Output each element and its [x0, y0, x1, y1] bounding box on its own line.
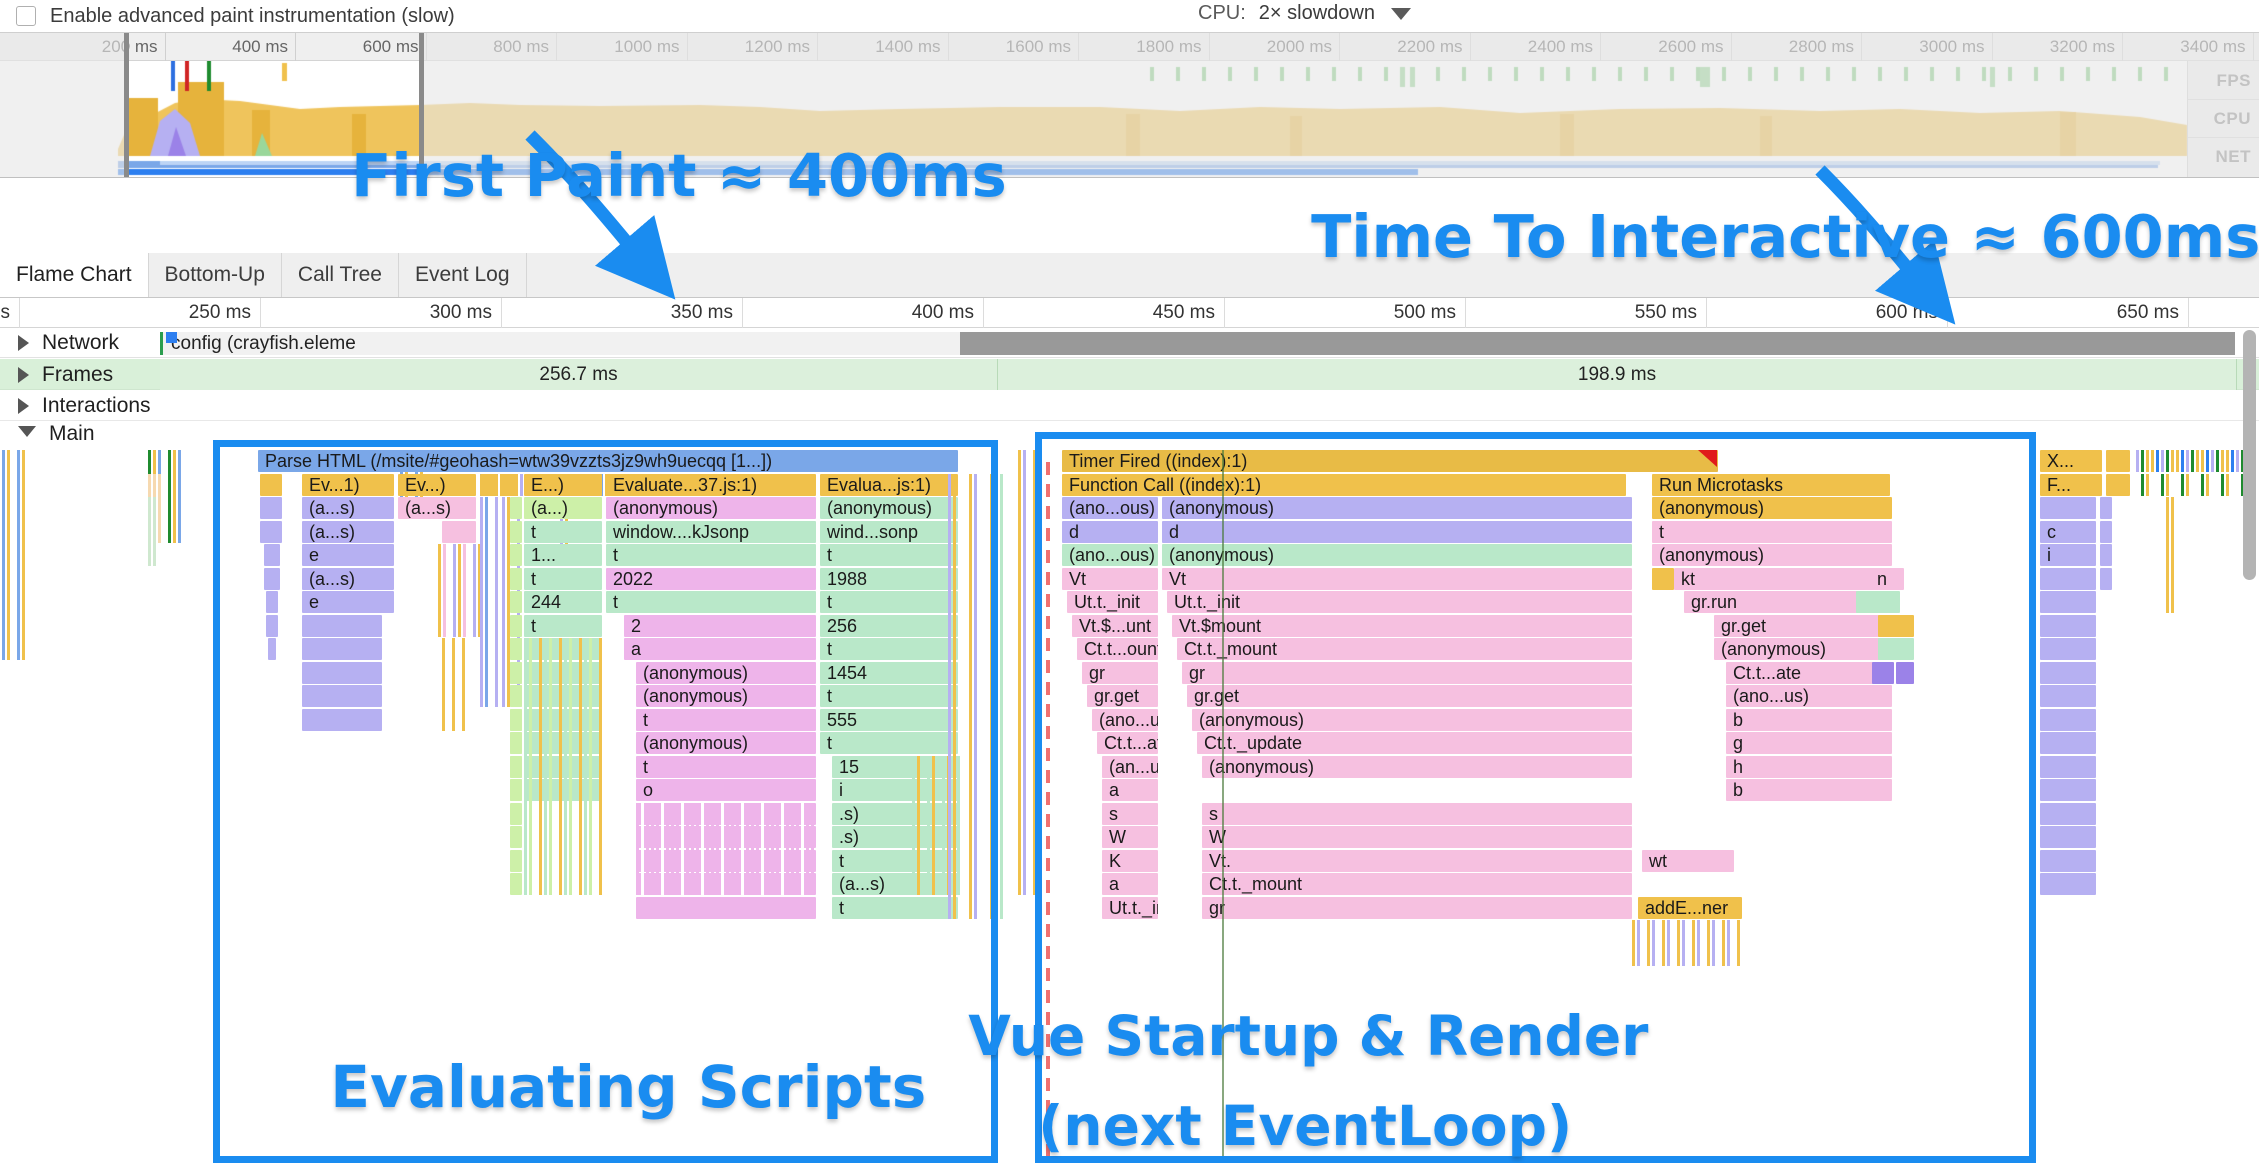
flame-frame[interactable]: a: [1102, 873, 1158, 895]
flame-microframe[interactable]: [781, 803, 784, 896]
flame-microframe[interactable]: [701, 803, 704, 896]
track-interactions[interactable]: Interactions: [0, 391, 2259, 421]
flame-frame[interactable]: [636, 897, 816, 919]
flame-frame[interactable]: Ev...1): [302, 474, 394, 496]
flame-microframe[interactable]: [726, 803, 729, 896]
flame-frame[interactable]: Ct.t...ate: [1726, 662, 1892, 684]
flame-microframe[interactable]: [771, 803, 774, 896]
flame-frame[interactable]: s: [1102, 803, 1158, 825]
flame-frame[interactable]: a: [624, 638, 816, 660]
flame-microframe[interactable]: [2231, 450, 2234, 472]
flame-frame[interactable]: 2: [624, 615, 816, 637]
flame-microframe[interactable]: [681, 803, 684, 896]
flame-microframe[interactable]: [801, 803, 804, 896]
flame-frame[interactable]: [502, 474, 518, 496]
flame-microframe[interactable]: [2151, 450, 2154, 472]
flame-frame[interactable]: Ev...): [398, 474, 476, 496]
cpu-value[interactable]: 2× slowdown: [1259, 2, 1375, 25]
flame-frame[interactable]: (ano...ous): [1062, 544, 1158, 566]
flame-frame[interactable]: [2040, 756, 2096, 778]
flame-microframe[interactable]: [2146, 450, 2149, 472]
flame-microframe[interactable]: [1682, 920, 1685, 966]
flame-frame-parse-html[interactable]: Parse HTML (/msite/#geohash=wtw39vzzts3j…: [258, 450, 958, 472]
flame-frame[interactable]: [510, 850, 522, 872]
flame-frame[interactable]: [260, 521, 282, 543]
flame-frame[interactable]: (a...s): [832, 873, 958, 895]
flame-frame[interactable]: [510, 732, 522, 754]
chevron-right-icon[interactable]: [18, 335, 29, 351]
flame-microframe[interactable]: [806, 803, 809, 896]
flame-frame[interactable]: [2040, 779, 2096, 801]
flame-microframe[interactable]: [666, 803, 669, 896]
flame-frame[interactable]: [2040, 873, 2096, 895]
flame-microframe[interactable]: [178, 450, 181, 543]
flame-microframe[interactable]: [731, 803, 734, 896]
flame-frame[interactable]: Function Call ((index):1): [1062, 474, 1626, 496]
flame-frame[interactable]: gr.get: [1087, 685, 1158, 707]
flame-frame[interactable]: a: [1102, 779, 1158, 801]
flame-microframe[interactable]: [2211, 450, 2214, 472]
flame-microframe[interactable]: [502, 497, 505, 707]
flame-frame[interactable]: Vt: [1162, 568, 1632, 590]
flame-frame[interactable]: [2040, 709, 2096, 731]
flame-frame[interactable]: (anonymous): [636, 732, 816, 754]
flame-frame[interactable]: [2040, 497, 2096, 519]
flame-frame[interactable]: [266, 615, 278, 637]
flame-microframe[interactable]: [520, 474, 523, 496]
flame-frame[interactable]: addE...ner: [1638, 897, 1742, 919]
flame-microframe[interactable]: [148, 497, 151, 566]
flame-frame[interactable]: [510, 685, 522, 707]
flame-microframe[interactable]: [691, 803, 694, 896]
tab-bottom-up[interactable]: Bottom-Up: [149, 253, 282, 297]
flame-frame[interactable]: K: [1102, 850, 1158, 872]
flame-frame[interactable]: [510, 497, 522, 519]
flame-frame[interactable]: t: [524, 568, 602, 590]
flame-microframe[interactable]: [696, 803, 699, 896]
flame-frame[interactable]: Ct.t...ate: [1097, 732, 1158, 754]
flame-frame[interactable]: 1...: [524, 544, 602, 566]
flame-microframe[interactable]: [438, 544, 441, 637]
flame-frame[interactable]: t: [820, 732, 958, 754]
track-main-label[interactable]: Main: [18, 422, 95, 446]
flame-frame[interactable]: [510, 638, 522, 660]
flame-frame[interactable]: (ano...us): [1092, 709, 1158, 731]
flame-microframe[interactable]: [948, 474, 951, 919]
flame-frame[interactable]: [2040, 615, 2096, 637]
flame-microframe[interactable]: [811, 803, 814, 896]
flame-microframe[interactable]: [458, 544, 461, 637]
flame-microframe[interactable]: [1023, 450, 1026, 895]
flame-microframe[interactable]: [2216, 450, 2219, 472]
flame-frame[interactable]: (anonymous): [1202, 756, 1632, 778]
flame-microframe[interactable]: [453, 544, 456, 637]
flame-microframe[interactable]: [579, 638, 582, 895]
flame-microframe[interactable]: [661, 803, 664, 896]
flame-frame[interactable]: [268, 638, 276, 660]
flame-frame[interactable]: [2040, 685, 2096, 707]
flame-frame[interactable]: [510, 591, 522, 613]
flame-frame[interactable]: [480, 474, 498, 496]
flame-frame[interactable]: (an...us): [1102, 756, 1158, 778]
flame-frame[interactable]: Vt.: [1202, 850, 1632, 872]
flame-microframe[interactable]: [480, 497, 483, 707]
flame-microframe[interactable]: [2166, 450, 2169, 472]
flame-frame[interactable]: n: [1870, 568, 1904, 590]
flame-frame[interactable]: t: [606, 591, 816, 613]
flame-microframe[interactable]: [549, 638, 552, 895]
flame-microframe[interactable]: [641, 803, 644, 896]
flame-frame[interactable]: [2040, 732, 2096, 754]
flame-microframe[interactable]: [524, 638, 527, 895]
flame-frame[interactable]: [442, 521, 476, 543]
flame-frame[interactable]: t: [524, 615, 602, 637]
flame-microframe[interactable]: [741, 803, 744, 896]
flame-frame[interactable]: X...: [2040, 450, 2102, 472]
flame-microframe[interactable]: [796, 803, 799, 896]
flame-frame[interactable]: [1872, 662, 1894, 684]
vertical-scrollbar[interactable]: [2243, 330, 2256, 580]
flame-frame[interactable]: i: [832, 779, 958, 801]
flame-frame[interactable]: [302, 638, 382, 660]
flame-frame[interactable]: g: [1726, 732, 1892, 754]
flame-frame[interactable]: [2040, 850, 2096, 872]
flame-frame[interactable]: c: [2040, 521, 2096, 543]
frame-segment[interactable]: 198.9 ms: [998, 359, 2237, 390]
checkbox-icon[interactable]: [16, 6, 36, 26]
flame-microframe[interactable]: [564, 638, 567, 895]
flame-microframe[interactable]: [1000, 474, 1003, 919]
flame-frame[interactable]: [2040, 638, 2096, 660]
flame-frame[interactable]: .s): [832, 826, 958, 848]
flame-frame[interactable]: (anonymous): [1192, 709, 1632, 731]
flame-frame[interactable]: (ano...us): [1726, 685, 1892, 707]
track-interactions-label[interactable]: Interactions: [18, 394, 151, 418]
flame-frame[interactable]: [264, 544, 280, 566]
flame-frame[interactable]: 1988: [820, 568, 958, 590]
flame-microframe[interactable]: [1662, 920, 1665, 966]
flame-frame[interactable]: [260, 497, 282, 519]
flame-microframe[interactable]: [974, 474, 977, 919]
flame-frame[interactable]: Ut.t._init: [1102, 897, 1158, 919]
flame-microframe[interactable]: [2171, 497, 2174, 613]
flame-microframe[interactable]: [2186, 474, 2189, 496]
flame-frame[interactable]: t: [636, 709, 816, 731]
flame-frame[interactable]: e: [302, 591, 394, 613]
flame-frame[interactable]: gr: [1182, 662, 1632, 684]
flame-microframe[interactable]: [2206, 450, 2209, 472]
flame-frame[interactable]: (a...s): [302, 521, 394, 543]
flame-microframe[interactable]: [539, 638, 542, 895]
flame-frame[interactable]: Vt: [1062, 568, 1158, 590]
flame-microframe[interactable]: [569, 638, 572, 895]
flame-microframe[interactable]: [495, 497, 498, 707]
flame-microframe[interactable]: [1707, 920, 1710, 966]
flame-frame[interactable]: gr: [1082, 662, 1158, 684]
flame-frame[interactable]: Vt.$mount: [1172, 615, 1632, 637]
flame-microframe[interactable]: [2136, 450, 2139, 472]
flame-frame[interactable]: [2040, 662, 2096, 684]
flame-frame[interactable]: [510, 615, 522, 637]
flame-frame[interactable]: t: [524, 521, 602, 543]
flame-frame[interactable]: d: [1162, 521, 1632, 543]
flame-frame[interactable]: Ut.t._init: [1067, 591, 1158, 613]
flame-frame[interactable]: (anonymous): [1162, 497, 1632, 519]
flame-frame[interactable]: [302, 685, 382, 707]
flame-microframe[interactable]: [706, 803, 709, 896]
flame-frame[interactable]: (anonymous): [1162, 544, 1632, 566]
flame-frame-timer-fired[interactable]: Timer Fired ((index):1): [1062, 450, 1718, 472]
flame-microframe[interactable]: [1018, 450, 1021, 895]
flame-frame[interactable]: (a...s): [302, 568, 394, 590]
flame-microframe[interactable]: [791, 803, 794, 896]
flame-frame[interactable]: t: [820, 685, 958, 707]
flame-frame[interactable]: E...): [524, 474, 602, 496]
flame-frame[interactable]: gr: [1202, 897, 1632, 919]
flame-frame[interactable]: [2100, 544, 2112, 566]
flame-frame[interactable]: t: [1652, 521, 1892, 543]
flame-microframe[interactable]: [463, 544, 466, 637]
flame-microframe[interactable]: [2226, 450, 2229, 472]
flame-frame[interactable]: [1878, 615, 1914, 637]
flame-frame[interactable]: [2040, 803, 2096, 825]
flame-microframe[interactable]: [686, 803, 689, 896]
flame-microframe[interactable]: [2141, 450, 2144, 472]
flame-frame[interactable]: [2100, 568, 2112, 590]
flame-microframe[interactable]: [1722, 920, 1725, 966]
flame-frame[interactable]: gr.get: [1714, 615, 1892, 637]
flame-frame[interactable]: [1856, 591, 1900, 613]
flame-frame[interactable]: [260, 474, 282, 496]
flame-frame[interactable]: i: [2040, 544, 2096, 566]
network-request-config[interactable]: config (crayfish.eleme: [160, 332, 960, 355]
flame-microframe[interactable]: [776, 803, 779, 896]
flame-microframe[interactable]: [2181, 450, 2184, 472]
flame-microframe[interactable]: [756, 803, 759, 896]
flame-microframe[interactable]: [751, 803, 754, 896]
flame-frame[interactable]: [2106, 450, 2130, 472]
flame-microframe[interactable]: [761, 803, 764, 896]
flame-microframe[interactable]: [721, 803, 724, 896]
flame-microframe[interactable]: [2171, 450, 2174, 472]
flame-microframe[interactable]: [485, 497, 488, 707]
flame-frame[interactable]: (anonymous): [636, 685, 816, 707]
tab-flame-chart[interactable]: Flame Chart: [0, 253, 149, 297]
flame-microframe[interactable]: [942, 756, 945, 896]
frame-segment[interactable]: 256.7 ms: [160, 359, 998, 390]
track-main[interactable]: Main: [0, 422, 2259, 450]
flame-microframe[interactable]: [462, 638, 465, 731]
flame-microframe[interactable]: [646, 803, 649, 896]
flame-microframe[interactable]: [1033, 450, 1036, 895]
flame-frame[interactable]: [510, 779, 522, 801]
flame-frame[interactable]: t: [606, 544, 816, 566]
flame-microframe[interactable]: [2226, 474, 2229, 496]
flame-frame[interactable]: [510, 873, 522, 895]
flame-frame[interactable]: [510, 521, 522, 543]
flame-frame[interactable]: 244: [524, 591, 602, 613]
flame-microframe[interactable]: [2191, 450, 2194, 472]
flame-microframe[interactable]: [1697, 920, 1700, 966]
flame-microframe[interactable]: [990, 474, 993, 919]
flame-frame[interactable]: (a...s): [302, 497, 394, 519]
flame-frame[interactable]: [1878, 638, 1914, 660]
flame-frame[interactable]: (a...): [524, 497, 602, 519]
flame-microframe[interactable]: [599, 638, 602, 895]
flame-frame[interactable]: e: [302, 544, 394, 566]
flame-frame[interactable]: (anonymous): [636, 662, 816, 684]
chevron-down-icon[interactable]: [18, 426, 36, 445]
flame-microframe[interactable]: [153, 497, 156, 566]
flame-frame[interactable]: (ano...ous): [1062, 497, 1158, 519]
flame-microframe[interactable]: [2186, 450, 2189, 472]
flame-microframe[interactable]: [969, 474, 972, 919]
cpu-throttling-control[interactable]: CPU: 2× slowdown: [1198, 2, 1411, 25]
flame-microframe[interactable]: [442, 638, 445, 731]
flame-frame[interactable]: [510, 803, 522, 825]
flame-microframe[interactable]: [671, 803, 674, 896]
flame-frame[interactable]: [510, 756, 522, 778]
flame-frame[interactable]: Ct.t._mount: [1177, 638, 1632, 660]
flame-microframe[interactable]: [22, 450, 25, 660]
flame-microframe[interactable]: [2166, 474, 2169, 496]
flame-microframe[interactable]: [656, 803, 659, 896]
flame-microframe[interactable]: [636, 803, 639, 896]
flame-microframe[interactable]: [2181, 474, 2184, 496]
flame-microframe[interactable]: [912, 756, 915, 896]
flame-frame[interactable]: Ct.t._mount: [1202, 873, 1632, 895]
flame-microframe[interactable]: [17, 450, 20, 660]
flame-microframe[interactable]: [1727, 920, 1730, 966]
flame-frame[interactable]: [510, 709, 522, 731]
flame-frame[interactable]: (a...s): [398, 497, 476, 519]
flame-microframe[interactable]: [2146, 474, 2149, 496]
flame-microframe[interactable]: [589, 638, 592, 895]
flame-microframe[interactable]: [1652, 920, 1655, 966]
flame-microframe[interactable]: [544, 638, 547, 895]
flame-microframe[interactable]: [2166, 497, 2169, 613]
flame-frame[interactable]: [2100, 497, 2112, 519]
flame-frame[interactable]: W: [1102, 826, 1158, 848]
flame-frame[interactable]: b: [1726, 779, 1892, 801]
flame-microframe[interactable]: [2221, 474, 2224, 496]
flame-frame[interactable]: t: [636, 756, 816, 778]
flame-microframe[interactable]: [766, 803, 769, 896]
flame-frame[interactable]: Evaluate...37.js:1): [606, 474, 816, 496]
flame-microframe[interactable]: [2141, 474, 2144, 496]
flame-frame[interactable]: (anonymous): [1652, 497, 1892, 519]
flame-microframe[interactable]: [2, 450, 5, 660]
flame-microframe[interactable]: [559, 638, 562, 895]
flame-frame[interactable]: 15: [832, 756, 958, 778]
chevron-right-icon[interactable]: [18, 367, 29, 383]
flame-frame[interactable]: t: [820, 638, 958, 660]
flame-frame[interactable]: [510, 662, 522, 684]
flame-frame[interactable]: 1454: [820, 662, 958, 684]
flame-frame[interactable]: h: [1726, 756, 1892, 778]
flame-microframe[interactable]: [2161, 474, 2164, 496]
flame-microframe[interactable]: [473, 544, 476, 637]
flame-frame[interactable]: d: [1062, 521, 1158, 543]
flame-frame[interactable]: [302, 709, 382, 731]
flame-frame[interactable]: [2100, 521, 2112, 543]
flame-frame[interactable]: t: [820, 591, 958, 613]
flame-frame[interactable]: [2106, 474, 2130, 496]
flame-frame[interactable]: s: [1202, 803, 1632, 825]
flame-frame[interactable]: 2022: [606, 568, 816, 590]
flame-microframe[interactable]: [443, 544, 446, 637]
flame-frame[interactable]: (anonymous): [1714, 638, 1892, 660]
flame-microframe[interactable]: [529, 638, 532, 895]
flame-microframe[interactable]: [932, 756, 935, 896]
flame-microframe[interactable]: [1712, 920, 1715, 966]
flame-frame[interactable]: kt: [1674, 568, 1892, 590]
flame-frame[interactable]: Ut.t._init: [1167, 591, 1632, 613]
flame-frame[interactable]: .s): [832, 803, 958, 825]
track-network-label[interactable]: Network: [18, 331, 119, 355]
flame-microframe[interactable]: [452, 638, 455, 731]
flame-microframe[interactable]: [957, 756, 960, 896]
flame-microframe[interactable]: [158, 474, 161, 543]
flame-microframe[interactable]: [1677, 920, 1680, 966]
flame-frame[interactable]: [302, 662, 382, 684]
flame-microframe[interactable]: [2206, 474, 2209, 496]
flame-frame[interactable]: F...: [2040, 474, 2102, 496]
flame-frame[interactable]: t: [832, 897, 958, 919]
flame-frame[interactable]: 256: [820, 615, 958, 637]
flame-frame[interactable]: [266, 591, 278, 613]
flame-frame[interactable]: window....kJsonp: [606, 521, 816, 543]
flame-microframe[interactable]: [676, 803, 679, 896]
flame-frame[interactable]: [264, 568, 280, 590]
flame-microframe[interactable]: [2176, 450, 2179, 472]
flame-microframe[interactable]: [1692, 920, 1695, 966]
flame-frame[interactable]: 555: [820, 709, 958, 731]
flame-frame[interactable]: b: [1726, 709, 1892, 731]
flame-frame[interactable]: (anonymous): [1652, 544, 1892, 566]
flame-frame[interactable]: wt: [1642, 850, 1734, 872]
flame-microframe[interactable]: [927, 756, 930, 896]
flame-frame[interactable]: o: [636, 779, 816, 801]
flame-frame[interactable]: wind...sonp: [820, 521, 958, 543]
flame-frame[interactable]: W: [1202, 826, 1632, 848]
flame-frame[interactable]: Evalua...js:1): [820, 474, 958, 496]
flame-frame[interactable]: Ct.t...ount: [1077, 638, 1158, 660]
flame-frame[interactable]: (anonymous): [820, 497, 958, 519]
flame-frame[interactable]: [510, 826, 522, 848]
flame-microframe[interactable]: [2201, 474, 2204, 496]
flame-microframe[interactable]: [173, 450, 176, 543]
flame-frame[interactable]: [302, 615, 382, 637]
flame-frame[interactable]: [510, 568, 522, 590]
flame-frame[interactable]: gr.get: [1187, 685, 1632, 707]
flame-frame[interactable]: t: [832, 850, 958, 872]
flame-frame[interactable]: Run Microtasks: [1652, 474, 1890, 496]
track-frames-label[interactable]: Frames: [18, 363, 113, 387]
flame-frame[interactable]: Vt.$...unt: [1072, 615, 1158, 637]
flame-microframe[interactable]: [2196, 450, 2199, 472]
flame-microframe[interactable]: [1737, 920, 1740, 966]
tab-call-tree[interactable]: Call Tree: [282, 253, 399, 297]
flame-microframe[interactable]: [651, 803, 654, 896]
flame-frame[interactable]: Ct.t._update: [1197, 732, 1632, 754]
flame-microframe[interactable]: [7, 450, 10, 660]
flame-microframe[interactable]: [584, 638, 587, 895]
flame-frame[interactable]: (anonymous): [606, 497, 816, 519]
flame-frame[interactable]: t: [820, 544, 958, 566]
chevron-right-icon[interactable]: [18, 398, 29, 414]
flame-microframe[interactable]: [2161, 450, 2164, 472]
